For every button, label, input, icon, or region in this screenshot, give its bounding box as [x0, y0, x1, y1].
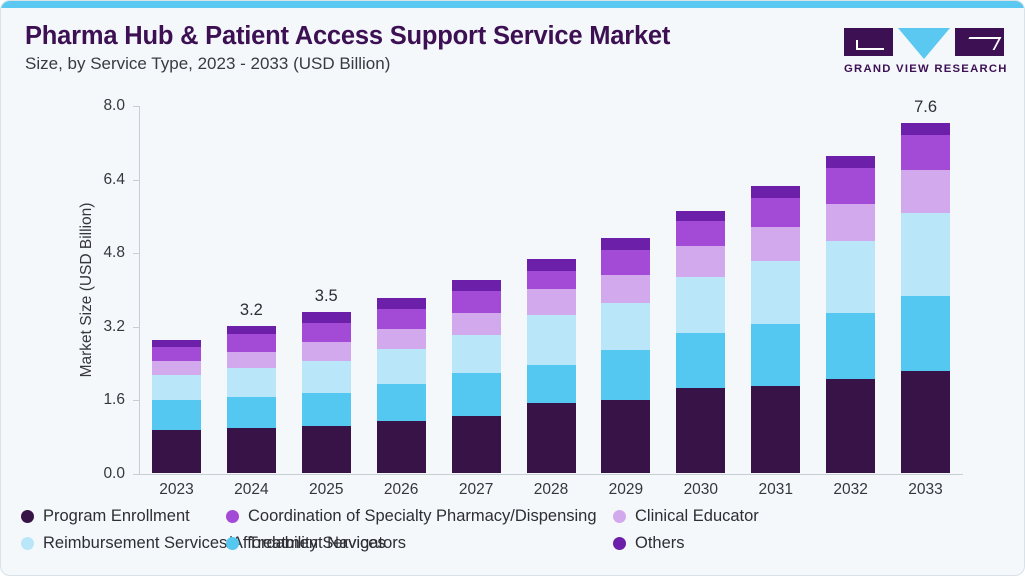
bar-stack-2032[interactable]	[826, 156, 875, 473]
y-tick-mark	[133, 180, 139, 181]
bar-segment[interactable]	[227, 326, 276, 334]
legend-swatch-icon	[21, 537, 34, 550]
legend-item[interactable]: Coordination of Specialty Pharmacy/Dispe…	[226, 507, 597, 526]
bar-segment[interactable]	[901, 135, 950, 170]
bar-segment[interactable]	[152, 430, 201, 473]
bar-segment[interactable]	[601, 303, 650, 350]
x-tick-label: 2023	[139, 481, 214, 499]
bar-segment[interactable]	[527, 271, 576, 290]
legend-item[interactable]: Treatment Navigators	[226, 534, 406, 553]
y-tick-label: 4.8	[103, 244, 125, 262]
legend-label: Treatment Navigators	[248, 534, 406, 553]
bar-segment[interactable]	[901, 170, 950, 213]
bar-segment[interactable]	[377, 384, 426, 421]
accent-top-bar	[1, 1, 1025, 8]
bar-segment[interactable]	[452, 291, 501, 313]
bar-stack-2033[interactable]	[901, 123, 950, 473]
bar-segment[interactable]	[302, 342, 351, 360]
logo-triangle-icon	[898, 28, 950, 59]
bar-segment[interactable]	[152, 400, 201, 430]
bar-segment[interactable]	[676, 388, 725, 473]
y-tick-mark	[133, 400, 139, 401]
y-tick-mark	[133, 106, 139, 107]
bar-segment[interactable]	[676, 277, 725, 333]
y-tick-label: 8.0	[103, 97, 125, 115]
bar-segment[interactable]	[452, 280, 501, 291]
logo-marks	[844, 28, 1004, 58]
x-tick-label: 2027	[439, 481, 514, 499]
bar-segment[interactable]	[601, 350, 650, 401]
bar-segment[interactable]	[751, 186, 800, 198]
bar-stack-2027[interactable]	[452, 280, 501, 473]
legend-swatch-icon	[613, 510, 626, 523]
y-tick-label: 1.6	[103, 391, 125, 409]
x-axis-line	[139, 474, 963, 475]
x-tick-label: 2025	[289, 481, 364, 499]
bar-stack-2031[interactable]	[751, 186, 800, 474]
bar-segment[interactable]	[152, 375, 201, 400]
bar-segment[interactable]	[751, 324, 800, 385]
bar-segment[interactable]	[826, 379, 875, 473]
x-tick-label: 2030	[663, 481, 738, 499]
grand-view-research-logo: GRAND VIEW RESEARCH	[844, 28, 1004, 75]
bar-segment[interactable]	[676, 246, 725, 277]
bar-segment[interactable]	[901, 371, 950, 473]
chart-subtitle: Size, by Service Type, 2023 - 2033 (USD …	[25, 54, 845, 74]
bar-stack-2028[interactable]	[527, 259, 576, 473]
bar-segment[interactable]	[601, 250, 650, 275]
bar-segment[interactable]	[302, 393, 351, 426]
legend-label: Coordination of Specialty Pharmacy/Dispe…	[248, 507, 597, 526]
bar-segment[interactable]	[826, 156, 875, 168]
bar-segment[interactable]	[227, 397, 276, 428]
bar-segment[interactable]	[227, 334, 276, 351]
logo-right-rect-icon	[955, 28, 1004, 56]
legend-swatch-icon	[226, 537, 239, 550]
bar-segment[interactable]	[302, 426, 351, 473]
bar-segment[interactable]	[302, 323, 351, 343]
bar-segment[interactable]	[527, 365, 576, 404]
bar-segment[interactable]	[227, 352, 276, 369]
bar-segment[interactable]	[826, 241, 875, 313]
x-tick-label: 2028	[514, 481, 589, 499]
bar-segment[interactable]	[152, 340, 201, 347]
page-title: Pharma Hub & Patient Access Support Serv…	[25, 21, 845, 51]
bar-segment[interactable]	[751, 261, 800, 324]
bar-segment[interactable]	[601, 400, 650, 473]
bar-segment[interactable]	[601, 275, 650, 303]
y-axis-line	[139, 106, 140, 475]
y-axis-title: Market Size (USD Billion)	[78, 203, 96, 378]
bar-stack-2030[interactable]	[676, 211, 725, 473]
bar-segment[interactable]	[527, 315, 576, 364]
bar-stack-2029[interactable]	[601, 238, 650, 473]
logo-wordmark: GRAND VIEW RESEARCH	[844, 63, 1004, 75]
chart-card: Pharma Hub & Patient Access Support Serv…	[0, 0, 1025, 576]
bar-segment[interactable]	[751, 386, 800, 473]
bar-value-label: 3.2	[240, 301, 263, 320]
bar-segment[interactable]	[527, 403, 576, 473]
bar-segment[interactable]	[152, 361, 201, 375]
bar-segment[interactable]	[527, 259, 576, 271]
bar-stack-2026[interactable]	[377, 298, 426, 473]
legend-swatch-icon	[613, 537, 626, 550]
logo-left-rect-icon	[844, 28, 893, 56]
bar-segment[interactable]	[377, 421, 426, 473]
bar-segment[interactable]	[901, 296, 950, 371]
bar-segment[interactable]	[152, 347, 201, 361]
x-tick-label: 2032	[813, 481, 888, 499]
x-tick-label: 2031	[738, 481, 813, 499]
plot-area: 0.01.63.24.86.48.0 Market Size (USD Bill…	[139, 106, 963, 474]
legend-swatch-icon	[21, 510, 34, 523]
y-tick-label: 0.0	[103, 465, 125, 483]
bar-segment[interactable]	[227, 368, 276, 397]
bar-segment[interactable]	[901, 123, 950, 135]
bar-value-label: 3.5	[315, 287, 338, 306]
bar-segment[interactable]	[377, 298, 426, 309]
bar-segment[interactable]	[227, 428, 276, 473]
x-tick-label: 2033	[888, 481, 963, 499]
bar-segment[interactable]	[377, 329, 426, 349]
chart-header: Pharma Hub & Patient Access Support Serv…	[25, 21, 845, 74]
x-tick-label: 2026	[364, 481, 439, 499]
bar-segment[interactable]	[452, 373, 501, 415]
bar-stack-2023[interactable]	[152, 340, 201, 473]
legend-item[interactable]: Others	[613, 534, 685, 553]
x-tick-label: 2029	[588, 481, 663, 499]
bar-segment[interactable]	[751, 227, 800, 261]
bar-segment[interactable]	[377, 349, 426, 384]
bar-segment[interactable]	[901, 213, 950, 296]
chart-legend: Program EnrollmentReimbursement Services…	[21, 507, 1011, 563]
bar-segment[interactable]	[826, 168, 875, 204]
bar-segment[interactable]	[302, 361, 351, 393]
bar-stack-2024[interactable]	[227, 326, 276, 473]
bar-segment[interactable]	[676, 211, 725, 221]
legend-swatch-icon	[226, 510, 239, 523]
bar-segment[interactable]	[826, 313, 875, 379]
bar-segment[interactable]	[452, 313, 501, 335]
legend-item[interactable]: Program Enrollment	[21, 507, 190, 526]
y-tick-label: 6.4	[103, 171, 125, 189]
bar-segment[interactable]	[527, 289, 576, 315]
legend-label: Program Enrollment	[43, 507, 190, 526]
bar-segment[interactable]	[452, 416, 501, 474]
y-tick-mark	[133, 253, 139, 254]
bar-segment[interactable]	[377, 309, 426, 329]
y-tick-mark	[133, 474, 139, 475]
bar-segment[interactable]	[676, 221, 725, 246]
bar-stack-2025[interactable]	[302, 312, 351, 473]
y-tick-mark	[133, 327, 139, 328]
legend-item[interactable]: Clinical Educator	[613, 507, 759, 526]
bar-segment[interactable]	[751, 198, 800, 228]
x-tick-label: 2024	[214, 481, 289, 499]
y-tick-label: 3.2	[103, 318, 125, 336]
bar-segment[interactable]	[302, 312, 351, 323]
bar-segment[interactable]	[452, 335, 501, 373]
bar-segment[interactable]	[826, 204, 875, 241]
legend-label: Others	[635, 534, 685, 553]
legend-label: Clinical Educator	[635, 507, 759, 526]
bar-value-label: 7.6	[914, 98, 937, 117]
bar-segment[interactable]	[676, 333, 725, 388]
bar-segment[interactable]	[601, 238, 650, 250]
